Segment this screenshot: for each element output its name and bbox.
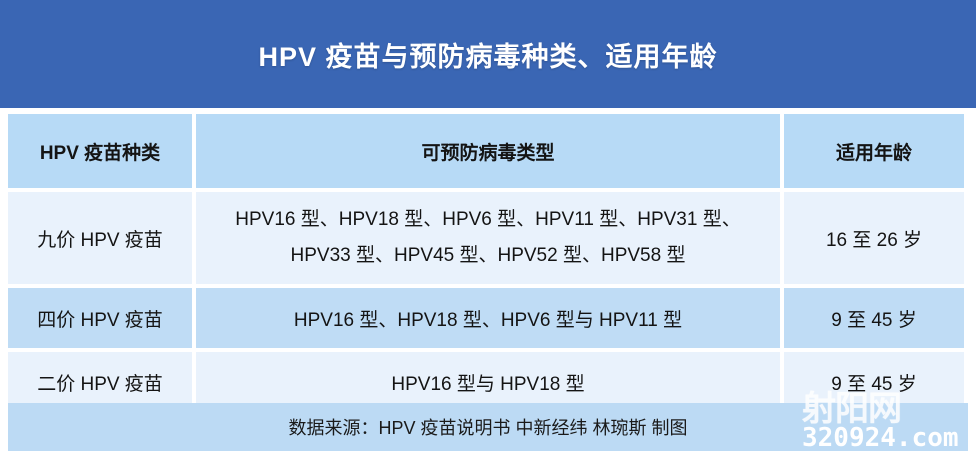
- cell-virus-types: HPV16 型、HPV18 型、HPV6 型、HPV11 型、HPV31 型、 …: [196, 192, 784, 284]
- source-footer: 数据来源：HPV 疫苗说明书 中新经纬 林琬斯 制图: [8, 403, 968, 451]
- table-row: 九价 HPV 疫苗 HPV16 型、HPV18 型、HPV6 型、HPV11 型…: [8, 192, 968, 288]
- cell-age-range: 9 至 45 岁: [784, 288, 964, 348]
- cell-vaccine-type: 四价 HPV 疫苗: [8, 288, 196, 348]
- virus-types-line-2: HPV33 型、HPV45 型、HPV52 型、HPV58 型: [235, 239, 740, 273]
- cell-age-range: 16 至 26 岁: [784, 192, 964, 284]
- virus-types-line-1: HPV16 型、HPV18 型、HPV6 型、HPV11 型、HPV31 型、: [235, 203, 740, 237]
- vaccine-table: HPV 疫苗种类 可预防病毒类型 适用年龄 九价 HPV 疫苗 HPV16 型、…: [8, 114, 968, 416]
- page-title: HPV 疫苗与预防病毒种类、适用年龄: [258, 35, 717, 74]
- source-text: 数据来源：HPV 疫苗说明书 中新经纬 林琬斯 制图: [288, 414, 687, 440]
- column-header-vaccine-type: HPV 疫苗种类: [8, 114, 196, 188]
- column-header-virus-types: 可预防病毒类型: [196, 114, 784, 188]
- title-banner: HPV 疫苗与预防病毒种类、适用年龄: [0, 0, 976, 108]
- infographic-root: HPV 疫苗与预防病毒种类、适用年龄 HPV 疫苗种类 可预防病毒类型 适用年龄…: [0, 0, 976, 456]
- table-row: 四价 HPV 疫苗 HPV16 型、HPV18 型、HPV6 型与 HPV11 …: [8, 288, 968, 352]
- column-header-age-range: 适用年龄: [784, 114, 964, 188]
- table-header-row: HPV 疫苗种类 可预防病毒类型 适用年龄: [8, 114, 968, 192]
- cell-vaccine-type: 九价 HPV 疫苗: [8, 192, 196, 284]
- cell-virus-types: HPV16 型、HPV18 型、HPV6 型与 HPV11 型: [196, 288, 784, 348]
